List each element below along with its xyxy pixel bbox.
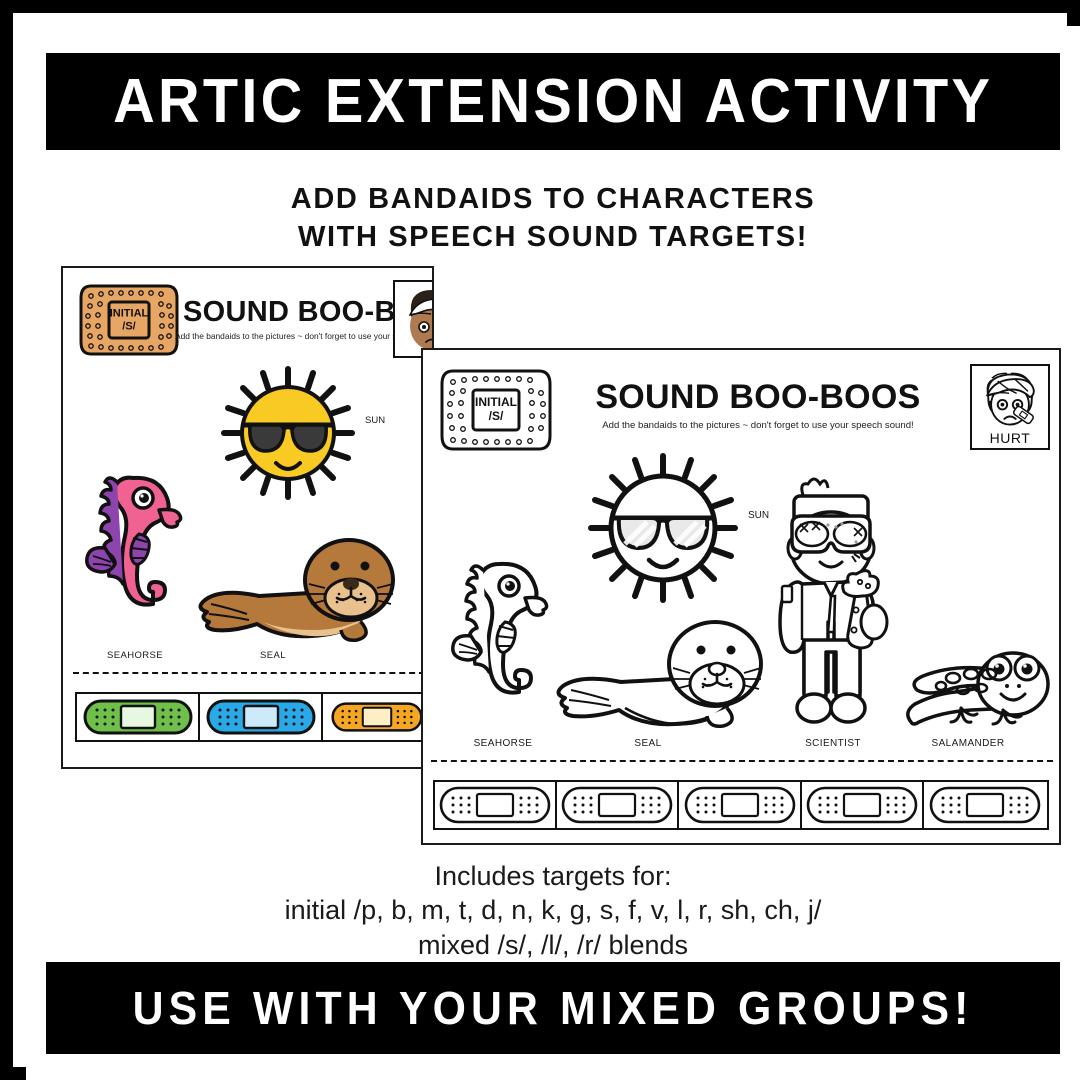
picture-salamander-bw <box>901 612 1051 734</box>
bandaid-shape-icon <box>77 282 181 358</box>
seal-icon <box>193 526 398 648</box>
bandaid-shape-icon <box>561 786 673 824</box>
blackwhite-worksheet-card[interactable]: INITIAL /S/ SOUND BOO-BOOS Add the banda… <box>421 348 1061 845</box>
hurt-card-bw: HURT <box>970 364 1050 450</box>
description-line-2: initial /p, b, m, t, d, n, k, g, s, f, v… <box>26 893 1080 927</box>
picture-seahorse-bw <box>443 550 561 730</box>
poster-frame: ARTIC EXTENSION ACTIVITY ADD BANDAIDS TO… <box>0 0 1080 1080</box>
bandaid-shape-icon <box>437 366 555 454</box>
scientist-icon <box>768 462 894 732</box>
hurt-card-label-bw: HURT <box>990 430 1031 446</box>
bandaid-shape-icon <box>83 699 193 735</box>
cut-line-color <box>73 672 425 674</box>
salamander-icon <box>901 612 1051 734</box>
color-worksheet-card[interactable]: INITIAL /S/ SOUND BOO-BOOS Add the banda… <box>61 266 434 769</box>
seahorse-icon <box>443 550 561 730</box>
worksheet-title-bw: SOUND BOO-BOOS <box>558 378 958 417</box>
bandaid-shape-icon <box>206 699 316 735</box>
green-bandaid[interactable] <box>83 699 193 735</box>
bandaid-cell[interactable] <box>802 782 924 828</box>
cut-line-bw <box>431 760 1053 762</box>
bandaid-shape-icon <box>439 786 551 824</box>
bandaid-5[interactable] <box>929 786 1041 824</box>
picture-scientist-bw <box>768 462 894 732</box>
picture-label-sun-color: SUN <box>365 415 385 426</box>
bandaid-cell[interactable] <box>435 782 557 828</box>
orange-bandaid[interactable] <box>331 699 423 735</box>
bandaid-1[interactable] <box>439 786 551 824</box>
bandaid-cell[interactable] <box>77 694 200 740</box>
poster-inner: ARTIC EXTENSION ACTIVITY ADD BANDAIDS TO… <box>26 26 1080 1080</box>
picture-label-salamander-bw: SALAMANDER <box>893 738 1043 749</box>
picture-sun-bw <box>585 450 741 606</box>
seahorse-icon <box>81 464 191 644</box>
subtitle-block: ADD BANDAIDS TO CHARACTERS WITH SPEECH S… <box>26 181 1080 256</box>
hurt-face-icon <box>395 282 434 356</box>
bandaid-2[interactable] <box>561 786 673 824</box>
sun-sunglasses-icon <box>585 450 741 606</box>
bandaid-strip-bw <box>433 780 1049 830</box>
bottom-banner: USE WITH YOUR MIXED GROUPS! <box>46 962 1060 1054</box>
worksheet-title-color: SOUND BOO-BOOS <box>183 296 413 329</box>
hurt-card-color <box>393 280 434 358</box>
description-block: Includes targets for: initial /p, b, m, … <box>26 859 1080 962</box>
worksheet-instructions-color: Add the bandaids to the pictures ~ don't… <box>175 331 421 341</box>
bandaid-strip-color <box>75 692 425 742</box>
bandaid-3[interactable] <box>684 786 796 824</box>
top-banner: ARTIC EXTENSION ACTIVITY <box>46 53 1060 150</box>
worksheet-instructions-bw: Add the bandaids to the pictures ~ don't… <box>548 420 968 431</box>
bottom-banner-title: USE WITH YOUR MIXED GROUPS! <box>133 981 974 1035</box>
bandaid-shape-icon <box>929 786 1041 824</box>
bandaid-shape-icon <box>806 786 918 824</box>
bandaid-cell[interactable] <box>557 782 679 828</box>
sound-tag-bandaid-bw: INITIAL /S/ <box>437 366 555 454</box>
bandaid-shape-icon <box>331 699 423 735</box>
bandaid-cell[interactable] <box>200 694 323 740</box>
subtitle-line-1: ADD BANDAIDS TO CHARACTERS <box>26 181 1080 219</box>
picture-label-scientist-bw: SCIENTIST <box>775 738 891 749</box>
bandaid-shape-icon <box>684 786 796 824</box>
color-worksheet-sheet: INITIAL /S/ SOUND BOO-BOOS Add the banda… <box>63 268 432 767</box>
sun-sunglasses-icon <box>218 363 358 503</box>
bandaid-cell[interactable] <box>679 782 801 828</box>
hurt-face-icon <box>975 368 1045 430</box>
bandaid-cell[interactable] <box>323 694 423 740</box>
blue-bandaid[interactable] <box>206 699 316 735</box>
picture-label-seahorse-bw: SEAHORSE <box>433 738 573 749</box>
description-line-3: mixed /s/, /l/, /r/ blends <box>26 928 1080 962</box>
picture-seahorse-color <box>81 464 191 644</box>
picture-sun-color <box>218 363 358 503</box>
picture-seal-bw <box>551 608 766 736</box>
seal-icon <box>551 608 766 736</box>
bandaid-4[interactable] <box>806 786 918 824</box>
description-line-1: Includes targets for: <box>26 859 1080 893</box>
sound-tag-bandaid-color: INITIAL /S/ <box>77 282 181 358</box>
picture-label-seahorse-color: SEAHORSE <box>75 650 195 661</box>
picture-label-seal-color: SEAL <box>213 650 333 661</box>
blackwhite-worksheet-sheet: INITIAL /S/ SOUND BOO-BOOS Add the banda… <box>423 350 1059 843</box>
top-banner-title: ARTIC EXTENSION ACTIVITY <box>113 66 993 137</box>
picture-label-sun-bw: SUN <box>748 510 769 521</box>
picture-seal-color <box>193 526 398 648</box>
bandaid-cell[interactable] <box>924 782 1047 828</box>
picture-label-seal-bw: SEAL <box>578 738 718 749</box>
subtitle-line-2: WITH SPEECH SOUND TARGETS! <box>26 219 1080 257</box>
